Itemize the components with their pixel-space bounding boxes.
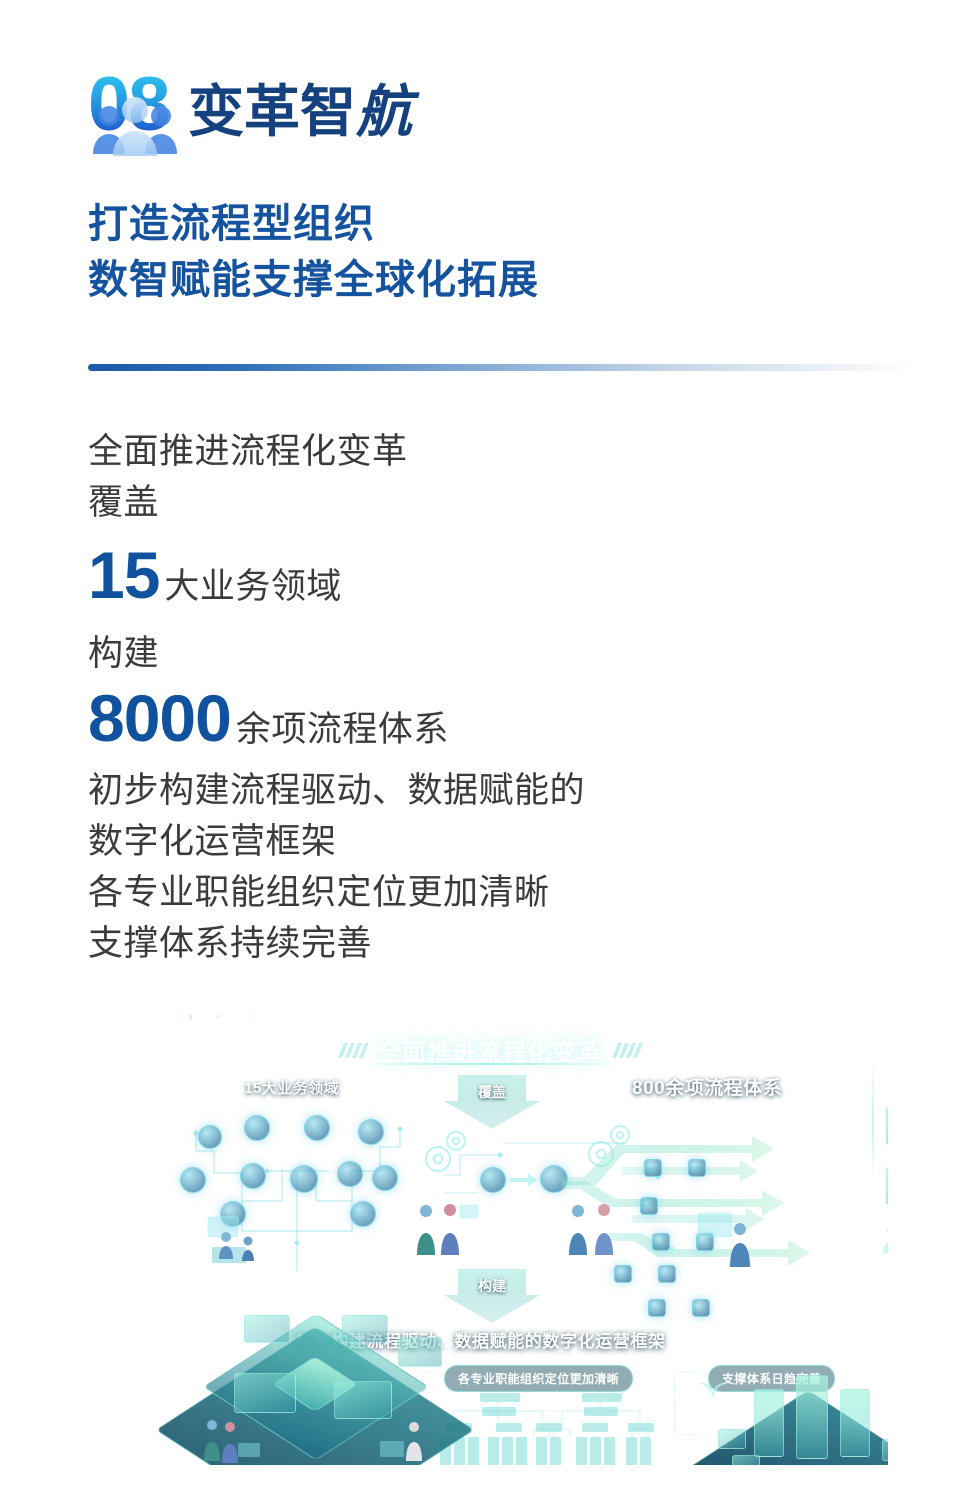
subtitle-line-2: 数智赋能支撑全球化拓展	[88, 252, 908, 308]
support-icon-cube-left	[718, 1429, 746, 1449]
subtitle-line-1: 打造流程型组织	[88, 196, 908, 252]
org-node-branch-3	[536, 1423, 562, 1432]
arrow-badge-build: 构建	[444, 1269, 540, 1323]
figure-label-processes: 800余项流程体系	[632, 1073, 782, 1100]
header: 08	[88, 62, 412, 162]
body-intro-line-1: 全面推进流程化变革	[88, 426, 928, 477]
tree-node-icon-3	[304, 1115, 330, 1141]
org-leaf-12	[626, 1437, 637, 1465]
body-closing-line-3: 各专业职能组织定位更加清晰	[88, 867, 928, 918]
org-node-sub-left	[482, 1407, 516, 1416]
process-transformation-infographic: 全面推进流程化变革 15大业务领域 800余项流程体系	[92, 1015, 888, 1465]
body-copy: 全面推进流程化变革 覆盖 15 大业务领域 构建 8000 余项流程体系 初步构…	[88, 426, 928, 969]
figure-title-row: 全面推进流程化变革	[92, 1033, 888, 1067]
support-pillar-center	[796, 1375, 828, 1459]
iso-screen-far-right	[398, 1337, 442, 1367]
poster-page: 08	[0, 0, 980, 1505]
org-node-sub-right	[584, 1407, 618, 1416]
iso-screen-right	[334, 1381, 392, 1419]
org-node-branch-2	[496, 1423, 522, 1432]
person-figure-monitor-right	[696, 1211, 762, 1271]
body-build-label: 构建	[88, 628, 928, 679]
org-leaf-10	[590, 1437, 601, 1465]
org-node-branch-4	[582, 1423, 608, 1432]
org-leaf-13	[640, 1437, 651, 1465]
endpoint-people-icon	[882, 1219, 888, 1257]
endpoint-chart-card-icon	[886, 1107, 888, 1145]
flow-icon-chart-sm	[652, 1233, 670, 1251]
flow-icon-calendar	[640, 1197, 658, 1215]
arrow-badge-build-label: 构建	[444, 1276, 540, 1296]
org-leaf-3	[468, 1437, 479, 1465]
iso-screen-top-left	[244, 1315, 290, 1343]
stat-fifteen-unit: 大业务领域	[164, 561, 342, 612]
section-number: 08	[88, 62, 169, 148]
person-figure-pair-right	[562, 1201, 632, 1263]
decor-right-line	[872, 1061, 874, 1181]
figure-canvas: 全面推进流程化变革 15大业务领域 800余项流程体系	[92, 1015, 888, 1465]
tree-node-icon-4	[358, 1119, 384, 1145]
flow-icon-tag	[658, 1265, 676, 1283]
body-closing-line-1: 初步构建流程驱动、数据赋能的	[88, 765, 928, 816]
page-title: 变革智航	[188, 81, 412, 143]
stat-fifteen-value: 15	[88, 536, 159, 614]
tree-node-icon-5	[180, 1167, 206, 1193]
section-number-badge: 08	[88, 62, 180, 162]
pill-org-clarity: 各专业职能组织定位更加清晰	[444, 1365, 633, 1392]
endpoint-pie-card-icon	[886, 1167, 888, 1205]
support-icon-cube-lower	[732, 1455, 760, 1465]
figure-title: 全面推进流程化变革	[378, 1033, 603, 1067]
org-node-root-left	[480, 1393, 520, 1402]
iso-screen-left	[234, 1373, 296, 1413]
slash-decor-right-icon	[615, 1043, 640, 1058]
section-divider	[88, 364, 914, 371]
figure-title-underline	[355, 1063, 625, 1065]
flow-icon-refresh	[648, 1299, 666, 1317]
org-leaf-8	[550, 1437, 561, 1465]
support-icon-cube-right	[882, 1439, 888, 1461]
tree-node-icon-7	[290, 1165, 318, 1193]
iso-screen-top-right	[342, 1315, 388, 1343]
org-leaf-7	[536, 1437, 547, 1465]
arrow-badge-cover-label: 覆盖	[444, 1082, 540, 1102]
org-node-branch-5	[628, 1423, 654, 1432]
org-node-root-right	[582, 1393, 622, 1402]
tree-node-icon-11	[350, 1201, 376, 1227]
org-leaf-4	[488, 1437, 499, 1465]
person-figure-bottom-right	[378, 1417, 438, 1465]
tree-node-icon-6	[240, 1163, 266, 1189]
org-leaf-11	[604, 1437, 615, 1465]
stat-eightthousand-unit: 余项流程体系	[236, 704, 449, 755]
org-leaf-6	[516, 1437, 527, 1465]
person-figure-bottom-left	[200, 1417, 262, 1465]
flow-icon-settings	[688, 1159, 706, 1177]
flow-icon-db	[644, 1159, 662, 1177]
flow-icon-box	[614, 1265, 632, 1283]
person-figure-desk-left	[204, 1211, 270, 1271]
tree-node-icon-2	[244, 1115, 270, 1141]
slash-decor-left-icon	[341, 1043, 366, 1058]
support-pillar-right	[840, 1389, 870, 1457]
arrow-badge-cover: 覆盖	[444, 1075, 540, 1129]
support-plant-icon	[696, 1373, 730, 1403]
page-title-prefix: 变革智	[188, 80, 356, 143]
org-leaf-9	[576, 1437, 587, 1465]
stat-eightthousand-value: 8000	[88, 679, 231, 757]
stat-eightthousand: 8000 余项流程体系	[88, 679, 928, 757]
person-figure-pair-middle	[410, 1201, 480, 1263]
tree-node-icon-9	[372, 1165, 398, 1191]
body-intro-line-2: 覆盖	[88, 477, 928, 528]
stat-fifteen: 15 大业务领域	[88, 536, 928, 614]
flow-icon-people-sm	[692, 1299, 710, 1317]
page-title-accent: 航	[356, 80, 412, 143]
org-leaf-5	[502, 1437, 513, 1465]
body-closing-line-4: 支撑体系持续完善	[88, 918, 928, 969]
subtitle-block: 打造流程型组织 数智赋能支撑全球化拓展	[88, 196, 908, 308]
tree-node-icon-1	[198, 1125, 222, 1149]
body-closing-line-2: 数字化运营框架	[88, 816, 928, 867]
support-pillar-left	[754, 1389, 784, 1457]
tree-node-icon-8	[337, 1161, 363, 1187]
